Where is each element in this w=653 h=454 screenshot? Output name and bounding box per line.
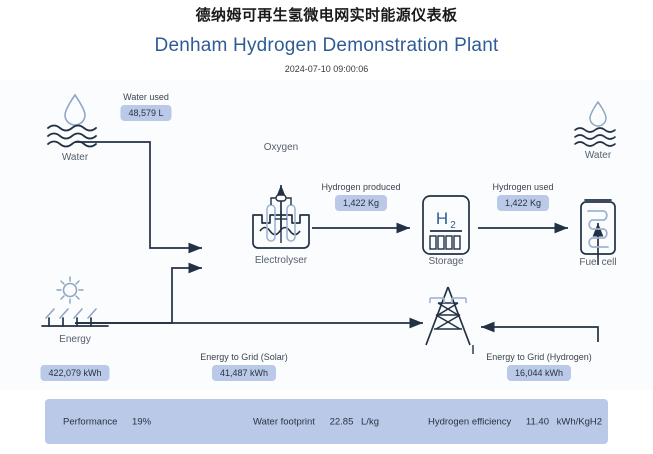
- node-label-fuel-cell: Fuel cell: [538, 257, 653, 268]
- badge-energy-total[interactable]: 422,079 kWh: [40, 365, 109, 381]
- metric-hydrogen-efficiency[interactable]: Hydrogen efficiency 11.40 kWh/KgH2: [428, 416, 602, 427]
- caption-grid-hydrogen: Energy to Grid (Hydrogen): [486, 352, 592, 362]
- node-label-water-source: Water: [15, 152, 135, 163]
- badge-hydrogen-produced[interactable]: 1,422 Kg: [335, 195, 387, 211]
- node-water-source[interactable]: Water: [42, 92, 108, 154]
- page-title-chinese: 德纳姆可再生氢微电网实时能源仪表板: [0, 4, 653, 25]
- badge-grid-solar[interactable]: 41,487 kWh: [212, 365, 276, 381]
- metric-value-hydrogen-efficiency: 11.40: [526, 416, 549, 427]
- power-pylon-icon: [418, 285, 478, 347]
- metric-label-water-footprint: Water footprint: [253, 416, 315, 427]
- metric-unit-water-footprint: L/kg: [361, 416, 379, 427]
- badge-hydrogen-used[interactable]: 1,422 Kg: [497, 195, 549, 211]
- badge-water-used[interactable]: 48,579 L: [120, 105, 171, 121]
- water-drop-waves-icon: [42, 92, 108, 148]
- timestamp: 2024-07-10 09:00:06: [0, 64, 653, 74]
- node-label-electrolyser: Electrolyser: [221, 255, 341, 266]
- node-label-energy-source: Energy: [15, 334, 135, 345]
- node-energy-source[interactable]: Energy: [38, 276, 112, 334]
- metric-unit-hydrogen-efficiency: kWh/KgH2: [557, 416, 602, 427]
- metric-water-footprint[interactable]: Water footprint 22.85 L/kg: [253, 416, 379, 427]
- node-water-output[interactable]: Water: [568, 100, 628, 156]
- hydrogen-storage-tank-icon: H 2: [419, 194, 473, 256]
- metric-value-water-footprint: 22.85: [330, 416, 354, 427]
- fuel-cell-icon: [573, 193, 623, 257]
- metric-performance[interactable]: Performance 19%: [63, 416, 151, 427]
- node-label-water-output: Water: [538, 150, 653, 161]
- metric-label-hydrogen-efficiency: Hydrogen efficiency: [428, 416, 511, 427]
- metrics-bar: Performance 19% Water footprint 22.85 L/…: [45, 399, 608, 444]
- svg-text:H: H: [436, 209, 448, 228]
- label-oxygen: Oxygen: [264, 142, 298, 153]
- metric-label-performance: Performance: [63, 416, 117, 427]
- caption-hydrogen-produced: Hydrogen produced: [321, 182, 400, 192]
- electrolyser-icon: [248, 193, 314, 255]
- caption-water-used: Water used: [123, 92, 169, 102]
- node-electrolyser[interactable]: Electrolyser: [248, 193, 314, 255]
- node-fuel-cell[interactable]: Fuel cell: [573, 193, 623, 255]
- dashboard-root: 德纳姆可再生氢微电网实时能源仪表板 Denham Hydrogen Demons…: [0, 0, 653, 454]
- svg-text:2: 2: [450, 220, 456, 231]
- caption-hydrogen-used: Hydrogen used: [492, 182, 553, 192]
- metric-value-performance: 19%: [132, 416, 151, 427]
- water-drop-waves-icon: [568, 100, 628, 148]
- solar-panel-sun-icon: [38, 276, 112, 334]
- page-title-english: Denham Hydrogen Demonstration Plant: [0, 35, 653, 57]
- badge-grid-hydrogen[interactable]: 16,044 kWh: [507, 365, 571, 381]
- process-flow-diagram: Water Water used 48,579 L: [0, 80, 653, 390]
- node-label-storage: Storage: [386, 256, 506, 267]
- node-power-grid[interactable]: [418, 285, 478, 345]
- node-storage[interactable]: H 2 Storage: [419, 194, 473, 256]
- caption-grid-solar: Energy to Grid (Solar): [200, 352, 288, 362]
